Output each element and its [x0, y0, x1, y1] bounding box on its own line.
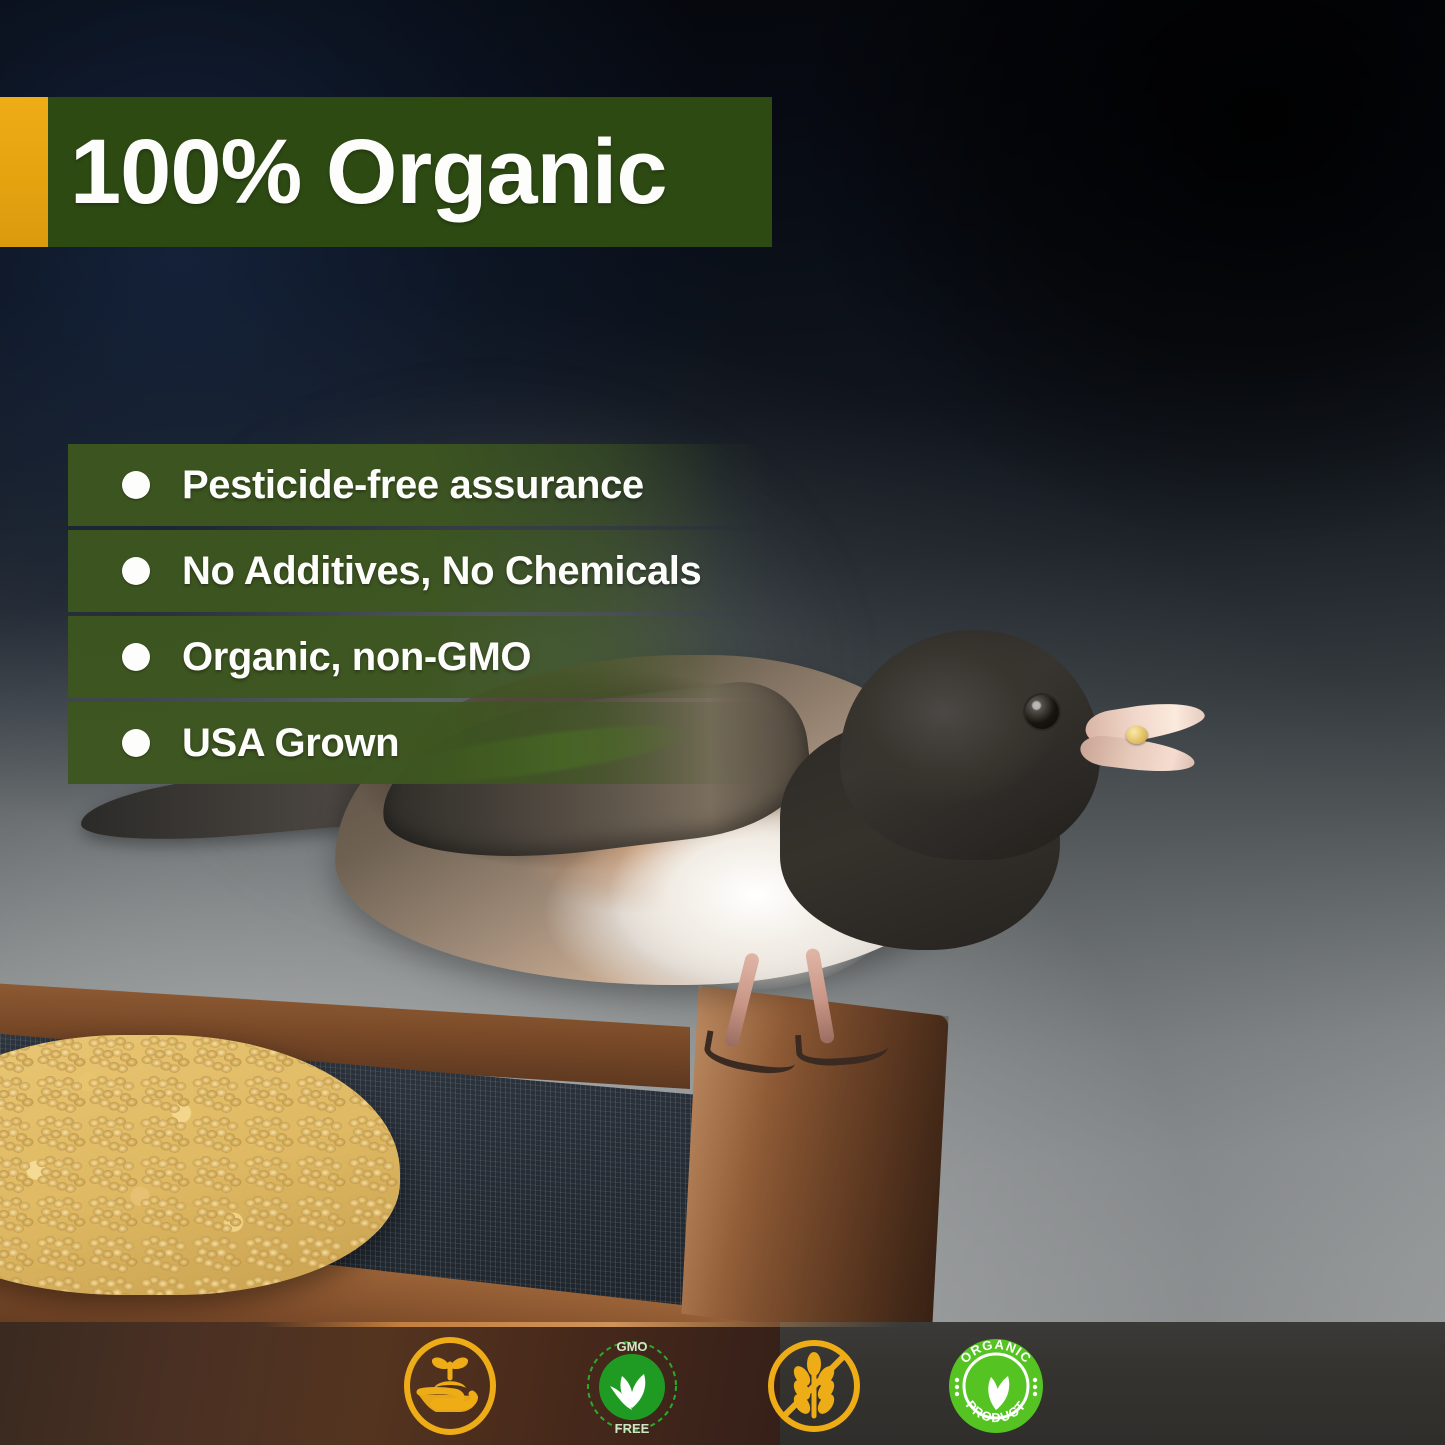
- bird-head: [840, 630, 1100, 860]
- gluten-free-wheat-icon: [762, 1334, 866, 1438]
- banner-body: 100% Organic: [48, 97, 772, 247]
- list-item: Organic, non-GMO: [68, 616, 768, 698]
- bullet-dot-icon: [122, 557, 150, 585]
- seed-in-beak: [1126, 726, 1148, 744]
- banner-accent-bar: [0, 97, 48, 247]
- bullet-dot-icon: [122, 471, 150, 499]
- feature-label: Pesticide-free assurance: [182, 463, 644, 508]
- product-feature-image: 100% Organic Pesticide-free assurance No…: [0, 0, 1445, 1445]
- bullet-dot-icon: [122, 729, 150, 757]
- bird-eye-glint: [1032, 701, 1041, 710]
- organic-product-seal-icon: ORGANIC PRODUCT: [944, 1334, 1048, 1438]
- hand-holding-sprout-icon: [398, 1334, 502, 1438]
- feature-label: USA Grown: [182, 721, 399, 766]
- feature-label: Organic, non-GMO: [182, 635, 531, 680]
- free-label: FREE: [614, 1421, 649, 1436]
- list-item: USA Grown: [68, 702, 768, 784]
- list-item: No Additives, No Chemicals: [68, 530, 768, 612]
- feature-list: Pesticide-free assurance No Additives, N…: [68, 444, 768, 784]
- gmo-label: GMO: [616, 1339, 647, 1354]
- certification-badges: GMO FREE: [0, 1330, 1445, 1442]
- list-item: Pesticide-free assurance: [68, 444, 768, 526]
- page-title: 100% Organic: [70, 126, 667, 218]
- bottom-strip-highlight: [260, 1322, 900, 1327]
- feature-label: No Additives, No Chemicals: [182, 549, 701, 594]
- bird-eye: [1025, 695, 1059, 729]
- bullet-dot-icon: [122, 643, 150, 671]
- headline-banner: 100% Organic: [0, 97, 772, 247]
- gmo-free-icon: GMO FREE: [580, 1334, 684, 1438]
